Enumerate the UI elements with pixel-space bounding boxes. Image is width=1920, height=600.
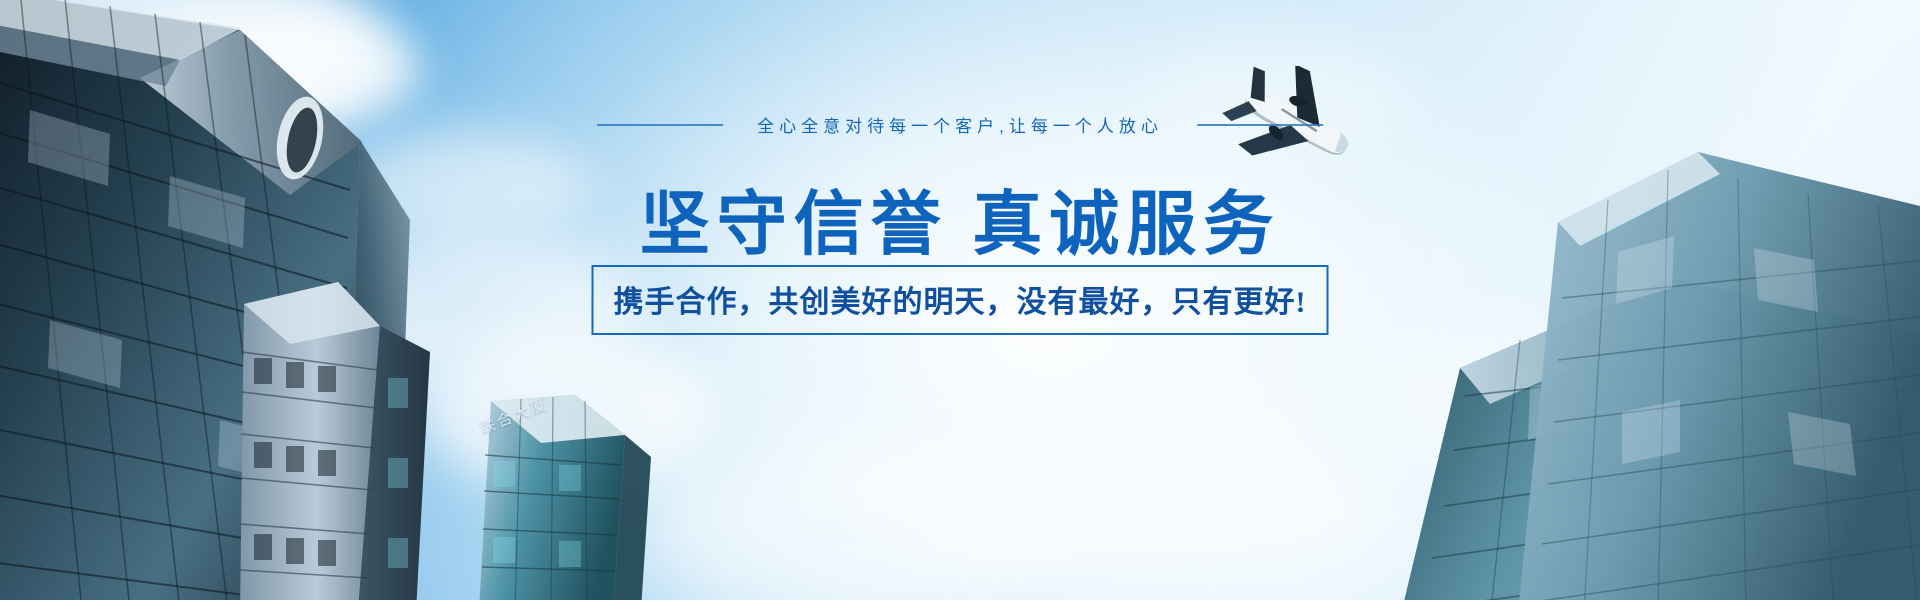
tagline-row: 全心全意对待每一个客户,让每一个人放心 [597, 112, 1323, 137]
subtitle-text: 携手合作，共创美好的明天，没有最好，只有更好! [614, 277, 1307, 321]
banner-text-content: 全心全意对待每一个客户,让每一个人放心 坚守信誉 真诚服务 携手合作，共创美好的… [0, 0, 1920, 600]
decorative-rule-right-icon [1197, 124, 1323, 126]
headline-text: 坚守信誉 真诚服务 [640, 168, 1281, 269]
tagline-text: 全心全意对待每一个客户,让每一个人放心 [757, 112, 1163, 137]
decorative-rule-left-icon [597, 124, 723, 126]
subtitle-box: 携手合作，共创美好的明天，没有最好，只有更好! [592, 265, 1329, 335]
hero-banner: 联合大厦 [0, 0, 1920, 600]
